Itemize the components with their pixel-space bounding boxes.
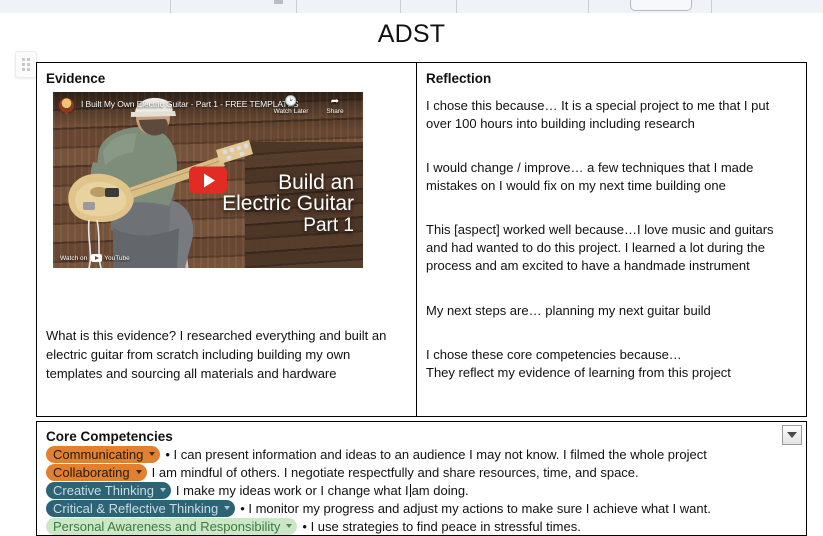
competency-row: Critical & Reflective Thinking • I monit… [46, 499, 797, 517]
chip-label: Communicating [53, 447, 143, 462]
youtube-icon [91, 254, 102, 262]
competency-row: Communicating • I can present informatio… [46, 445, 797, 463]
evidence-heading: Evidence [46, 71, 407, 86]
toolbar-separator [170, 0, 171, 13]
watch-later-button[interactable]: 🕑 Watch Later [271, 96, 311, 115]
chip-label: Collaborating [53, 465, 130, 480]
toolbar-separator [711, 0, 712, 13]
competency-description-before-caret[interactable]: I make my ideas work or I change what I [176, 483, 409, 498]
watch-later-label: Watch Later [274, 108, 309, 115]
competency-description[interactable]: • I use strategies to find peace in stre… [302, 519, 580, 534]
competency-description[interactable]: • I can present information and ideas to… [165, 447, 706, 462]
chip-dropdown-icon [136, 470, 142, 474]
toolbar-separator [456, 0, 457, 13]
youtube-wordmark: YouTube [104, 255, 130, 262]
youtube-video-embed[interactable]: I Built My Own Electric Guitar - Part 1 … [53, 92, 363, 268]
competency-chip-collaborating[interactable]: Collaborating [46, 464, 147, 481]
reflection-paragraph[interactable]: This [aspect] worked well because…I love… [426, 221, 797, 275]
app-toolbar-sliver [0, 0, 823, 14]
toolbar-button-fragment[interactable] [630, 0, 692, 11]
document-page: ADST Evidence [0, 13, 823, 536]
competency-description[interactable]: I am mindful of others. I negotiate resp… [152, 465, 639, 480]
competency-chip-creative-thinking[interactable]: Creative Thinking [46, 482, 171, 499]
competency-chip-communicating[interactable]: Communicating [46, 446, 160, 463]
competency-chip-personal-awareness[interactable]: Personal Awareness and Responsibility [46, 518, 297, 535]
chip-dropdown-icon [149, 452, 155, 456]
toolbar-separator [588, 0, 589, 13]
toolbar-icon-fragment [274, 0, 283, 4]
competency-description[interactable]: • I monitor my progress and adjust my ac… [240, 501, 711, 516]
chip-label: Creative Thinking [53, 483, 154, 498]
competency-description-after-caret[interactable]: am doing. [412, 483, 469, 498]
evidence-body-text[interactable]: What is this evidence? I researched ever… [46, 326, 407, 383]
page-title: ADST [0, 20, 823, 49]
overlay-line-2: Electric Guitar [222, 193, 354, 214]
reflection-paragraph[interactable]: I chose this because… It is a special pr… [426, 97, 797, 133]
watch-on-youtube-link[interactable]: Watch on YouTube [60, 254, 130, 262]
youtube-logo: YouTube [91, 254, 130, 262]
competency-chip-critical-reflective-thinking[interactable]: Critical & Reflective Thinking [46, 500, 235, 517]
play-icon [204, 173, 215, 187]
competency-row: Creative Thinking I make my ideas work o… [46, 481, 797, 499]
evidence-cell: Evidence [37, 63, 417, 416]
share-label: Share [326, 108, 343, 115]
share-icon: ➦ [315, 96, 355, 107]
chip-dropdown-icon [160, 488, 166, 492]
chip-label: Personal Awareness and Responsibility [53, 519, 280, 534]
video-title[interactable]: I Built My Own Electric Guitar - Part 1 … [81, 99, 299, 109]
competency-row: Personal Awareness and Responsibility • … [46, 517, 797, 535]
drag-handle[interactable] [15, 51, 37, 78]
reflection-cell: Reflection I chose this because… It is a… [417, 63, 806, 416]
toolbar-separator [400, 0, 401, 13]
chip-dropdown-icon [224, 506, 230, 510]
reflection-paragraph[interactable]: My next steps are… planning my next guit… [426, 302, 797, 320]
toolbar-separator [296, 0, 297, 13]
overlay-line-1: Build an [222, 172, 354, 193]
text-cursor [410, 484, 411, 497]
collapse-button[interactable] [782, 425, 802, 445]
chevron-down-icon [787, 432, 797, 438]
watch-on-label: Watch on [60, 255, 87, 262]
core-competencies-heading: Core Competencies [46, 429, 797, 444]
channel-avatar[interactable] [58, 97, 75, 114]
chip-label: Critical & Reflective Thinking [53, 501, 218, 516]
video-overlay-text: Build an Electric Guitar Part 1 [222, 172, 354, 235]
share-button[interactable]: ➦ Share [315, 96, 355, 115]
reflection-paragraph[interactable]: I would change / improve… a few techniqu… [426, 159, 797, 195]
overlay-line-3: Part 1 [222, 216, 354, 235]
core-competencies-box: Core Competencies Communicating • I can … [36, 421, 807, 536]
reflection-heading: Reflection [426, 71, 797, 86]
reflection-paragraph-list: I chose this because… It is a special pr… [426, 97, 797, 382]
page-right-gutter [808, 13, 823, 536]
clock-icon: 🕑 [271, 96, 311, 107]
chip-dropdown-icon [286, 524, 292, 528]
reflection-paragraph[interactable]: I chose these core competencies because…… [426, 346, 797, 382]
grid-dots-icon [22, 58, 30, 71]
play-button[interactable] [189, 167, 227, 194]
competency-row: Collaborating I am mindful of others. I … [46, 463, 797, 481]
evidence-reflection-table: Evidence [36, 62, 807, 417]
